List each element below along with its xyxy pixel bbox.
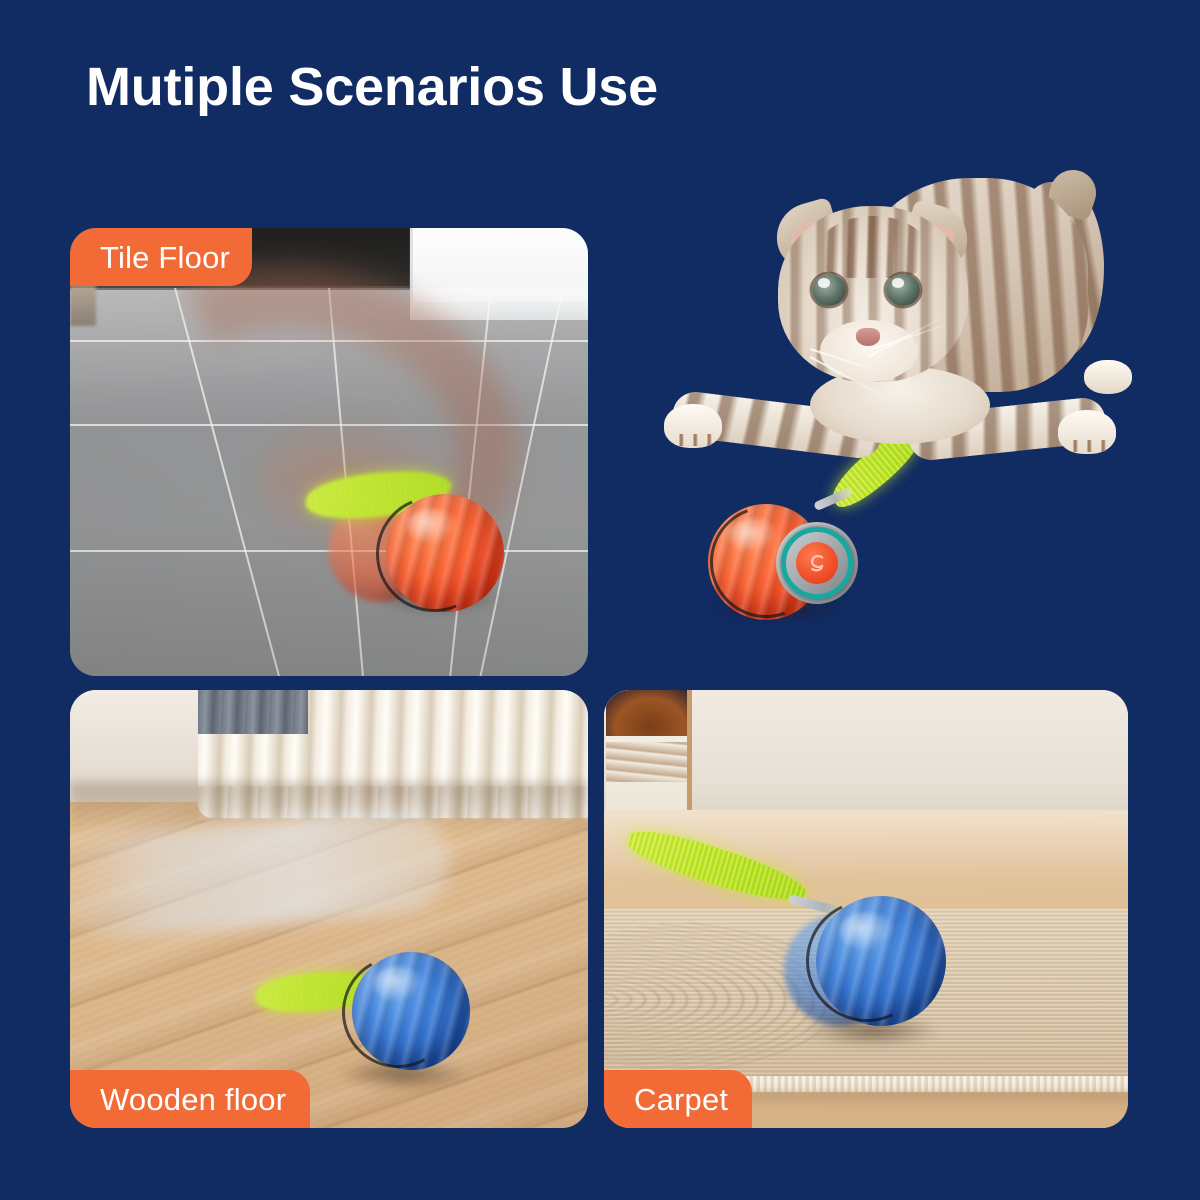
badge-wooden-floor: Wooden floor [70,1070,310,1128]
picture-lines [606,742,687,782]
hero-product-toy [700,470,960,630]
kitten-hind-paw [1084,360,1132,394]
product-toy-ball [608,808,968,1058]
scenario-card-wooden-floor[interactable]: Wooden floor [70,690,588,1128]
kitten-eye-glint [892,278,904,288]
marketing-banner: Mutiple Scenarios Use [0,0,1200,1200]
carpet-scene [604,690,1128,1128]
kitten-eye-glint [818,278,830,288]
feather-plume [623,821,811,913]
hero-illustration [660,170,1160,660]
kitten-eye-right [886,274,920,306]
badge-tile-floor: Tile Floor [70,228,252,286]
kitten-claws [670,434,716,446]
kitten-paw-left [664,404,722,448]
wooden-floor-scene [70,690,588,1128]
kitten-image [660,170,1120,470]
kitten-nose [856,328,880,346]
kitten-forehead-stripes [820,216,926,278]
kitten-claws [1064,440,1110,452]
kitten-eye-left [812,274,846,306]
background-curtain-dark [198,690,308,734]
picture-art [606,690,687,736]
badge-carpet: Carpet [604,1070,752,1128]
framed-picture [606,690,692,824]
scenario-card-tile-floor[interactable]: Tile Floor [70,228,588,676]
kitten-paw-right [1058,410,1116,454]
product-toy-ball [302,440,552,630]
tile-floor-scene [70,228,588,676]
scenario-card-carpet[interactable]: Carpet [604,690,1128,1128]
page-title: Mutiple Scenarios Use [86,56,986,118]
feather-fibers [623,821,811,913]
